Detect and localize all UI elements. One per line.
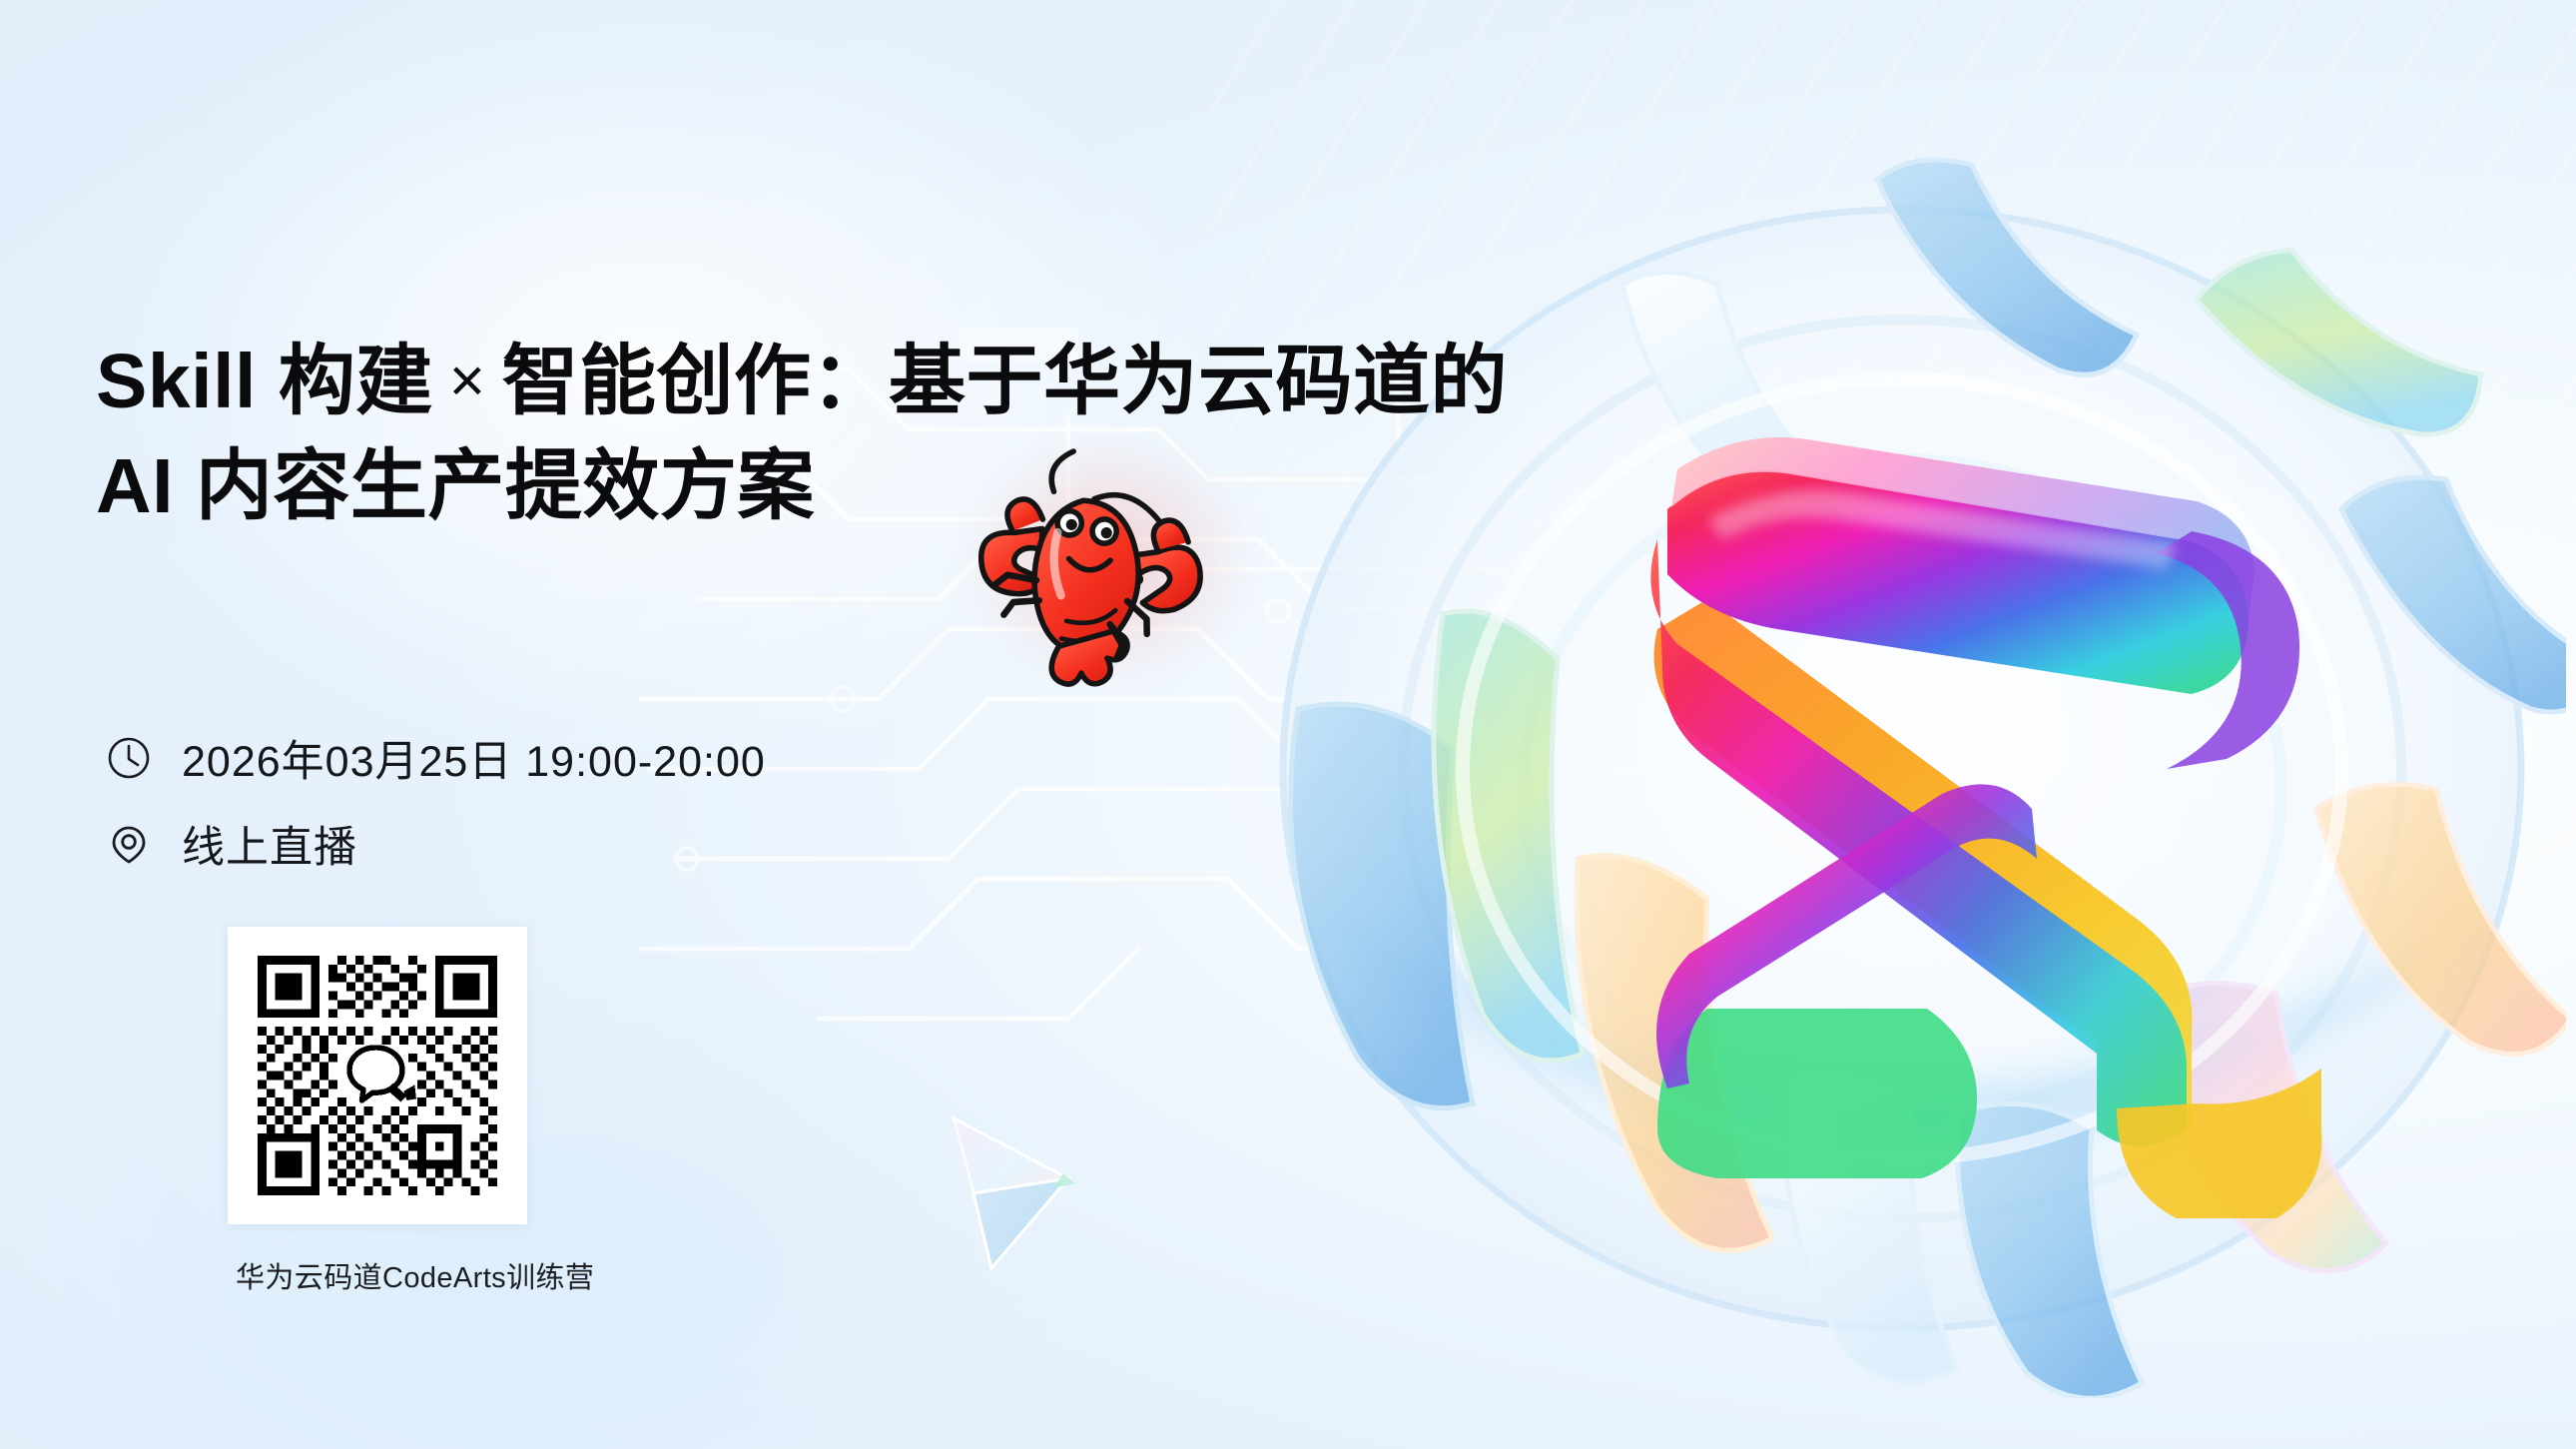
event-datetime: 2026年03月25日 19:00-20:00: [182, 727, 766, 789]
meta-row-location: 线上直播: [104, 801, 766, 887]
title-suffix: 智能创作：基于华为云码道的: [501, 339, 1508, 424]
speech-bubble-megaphone-icon: [346, 1045, 416, 1106]
title-line-2: AI 内容生产提效方案: [96, 434, 1214, 539]
glass-ribbon-artwork: [1238, 70, 2566, 1398]
content-column: Skill 构建×智能创作：基于华为云码道的 AI 内容生产提效方案 2026年…: [96, 0, 1294, 1449]
title-line-1: Skill 构建×智能创作：基于华为云码道的: [96, 330, 1214, 434]
event-location: 线上直播: [182, 813, 357, 875]
qr-code[interactable]: [228, 927, 527, 1224]
qr-caption: 华为云码道CodeArts训练营: [236, 1254, 535, 1296]
clock-icon: [104, 733, 154, 783]
title-prefix: Skill 构建: [96, 339, 433, 424]
event-meta: 2026年03月25日 19:00-20:00 线上直播: [104, 715, 766, 887]
map-pin-icon: [104, 819, 154, 869]
title-separator-icon: ×: [433, 347, 502, 415]
page-title: Skill 构建×智能创作：基于华为云码道的 AI 内容生产提效方案: [96, 330, 1214, 540]
meta-row-datetime: 2026年03月25日 19:00-20:00: [104, 715, 766, 801]
qr-section: 华为云码道CodeArts训练营: [228, 927, 527, 1296]
event-poster: Skill 构建×智能创作：基于华为云码道的 AI 内容生产提效方案 2026年…: [0, 0, 2576, 1449]
